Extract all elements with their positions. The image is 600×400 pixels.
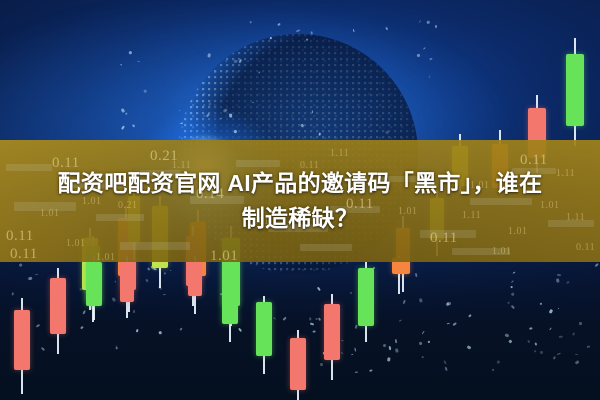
- particle: [144, 90, 147, 93]
- candle-bl-4: [120, 256, 134, 318]
- price-number: 0.11: [576, 242, 595, 253]
- particle: [414, 272, 417, 277]
- particle: [419, 298, 422, 302]
- particle: [256, 264, 258, 265]
- candle-bl-1: [14, 298, 30, 394]
- headline-line-2: 制造稀缺？: [0, 201, 600, 236]
- particle: [129, 51, 132, 55]
- particle: [137, 60, 140, 62]
- candle-body: [86, 262, 102, 306]
- candle-bl-7: [256, 296, 272, 374]
- candle-body: [566, 54, 584, 126]
- candle-body: [290, 338, 306, 390]
- candle-body: [256, 302, 272, 356]
- candle-body: [14, 310, 30, 370]
- particle: [319, 363, 323, 367]
- candle-body: [50, 278, 66, 334]
- candle-bl-9: [324, 294, 340, 380]
- price-number: 1.01: [492, 246, 512, 257]
- headline-line-1: 配资吧配资官网 AI产品的邀请码「黑市」，谁在: [0, 166, 600, 201]
- particle: [115, 346, 117, 349]
- particle: [229, 113, 232, 117]
- candle-body: [222, 262, 238, 324]
- particle: [318, 132, 321, 135]
- candle-tr-4: [566, 38, 584, 146]
- particle: [447, 322, 450, 324]
- banner-image: 0.110.110.111.011.011.010.211.010.211.11…: [0, 0, 600, 400]
- particle: [355, 371, 358, 372]
- particle: [510, 286, 512, 288]
- particle: [497, 361, 500, 364]
- price-number: 1.11: [330, 148, 349, 159]
- particle: [310, 31, 313, 35]
- candle-bl-5: [188, 256, 202, 314]
- candle-body: [324, 304, 340, 360]
- candle-body: [120, 262, 134, 302]
- headline-text: 配资吧配资官网 AI产品的邀请码「黑市」，谁在 制造稀缺？: [0, 166, 600, 236]
- candle-body: [358, 268, 374, 326]
- price-number: 1.01: [210, 248, 238, 262]
- particle: [309, 317, 311, 320]
- particle: [534, 350, 536, 352]
- particle: [388, 346, 391, 350]
- price-number: 0.11: [10, 246, 38, 262]
- band-bar: [300, 244, 352, 251]
- band-bar: [120, 242, 190, 250]
- candle-bl-8: [290, 330, 306, 400]
- candle-bl-3: [86, 256, 102, 320]
- candle-bl-10: [358, 262, 374, 342]
- particle: [540, 351, 543, 354]
- price-number: 1.01: [66, 238, 86, 249]
- candle-bl-2: [50, 268, 66, 354]
- candle-bl-6: [222, 256, 238, 342]
- particle: [312, 330, 315, 332]
- candle-body: [188, 262, 202, 296]
- particle: [435, 25, 438, 28]
- price-number: 1.01: [96, 252, 116, 262]
- particle: [306, 39, 308, 41]
